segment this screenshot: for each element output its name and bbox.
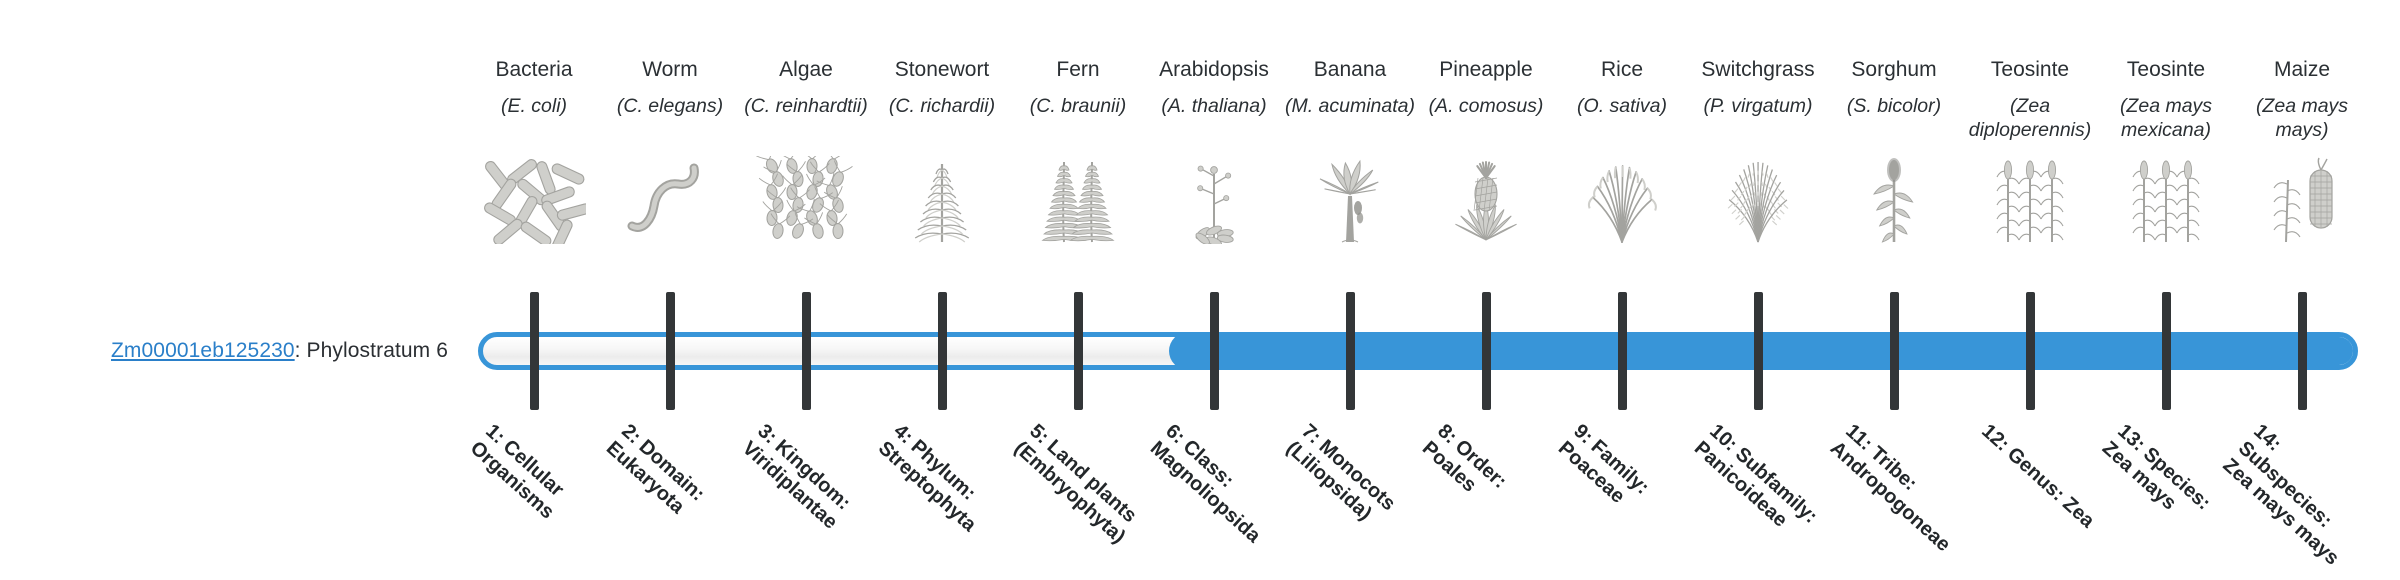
taxonomy-label: 4: Phylum: Streptophyta bbox=[874, 414, 1010, 580]
species-common-name: Maize bbox=[2234, 58, 2370, 82]
taxonomy-label: 14: Subspecies: Zea mays mays bbox=[2234, 414, 2370, 580]
taxonomy-label: 1: Cellular Organisms bbox=[466, 414, 602, 580]
taxonomy-label-text: 3: Kingdom: Viridiplantae bbox=[737, 420, 879, 555]
species-common-name: Fern bbox=[1010, 58, 1146, 82]
species-scientific-name: (P. virgatum) bbox=[1686, 94, 1830, 118]
species-common-name: Bacteria bbox=[466, 58, 602, 82]
phylostratum-label: Phylostratum 6 bbox=[307, 339, 448, 362]
species-common-name: Banana bbox=[1282, 58, 1418, 82]
species-scientific-name: (O. sativa) bbox=[1550, 94, 1694, 118]
species-common-name: Pineapple bbox=[1418, 58, 1554, 82]
taxonomy-label-text: 12: Genus: Zea bbox=[1977, 420, 2104, 537]
taxonomy-label-text: 7: Monocots (Liliopsida) bbox=[1281, 420, 1423, 555]
sorghum-plant-icon bbox=[1842, 156, 1946, 244]
switchgrass-plant-icon bbox=[1706, 156, 1810, 244]
species-common-name: Teosinte bbox=[2098, 58, 2234, 82]
taxonomy-label: 7: Monocots (Liliopsida) bbox=[1282, 414, 1418, 580]
taxonomy-label: 3: Kingdom: Viridiplantae bbox=[738, 414, 874, 580]
gene-phylostratum-text: : Phylostratum 6 bbox=[295, 339, 448, 363]
taxonomy-label: 10: Subfamily: Panicoideae bbox=[1690, 414, 1826, 580]
species-scientific-name: (Zea mays mays) bbox=[2230, 94, 2374, 142]
pineapple-plant-icon bbox=[1434, 156, 1538, 244]
species-scientific-name: (C. richardii) bbox=[870, 94, 1014, 118]
track-background bbox=[478, 332, 2358, 370]
teosinte-ears-icon bbox=[1978, 156, 2082, 244]
phylostratigraphy-figure: Zm00001eb125230: Phylostratum 6 Bacteria… bbox=[0, 0, 2400, 580]
taxonomy-label-text: 10: Subfamily: Panicoideae bbox=[1689, 420, 1831, 555]
gene-id-link[interactable]: Zm00001eb125230 bbox=[111, 339, 295, 363]
nematode-worm-icon bbox=[618, 156, 722, 244]
taxonomy-label-text: 2: Domain: Eukaryota bbox=[601, 420, 743, 555]
banana-tree-icon bbox=[1298, 156, 1402, 244]
stonewort-plant-icon bbox=[890, 156, 994, 244]
taxonomy-label: 9: Family: Poaceae bbox=[1554, 414, 1690, 580]
species-scientific-name: (Zea diploperennis) bbox=[1958, 94, 2102, 142]
taxonomy-label-text: 5: Land plants (Embryophyta) bbox=[1009, 420, 1151, 555]
taxonomy-label-text: 11: Tribe: Andropogoneae bbox=[1825, 420, 1967, 555]
taxonomy-label: 6: Class: Magnoliopsida bbox=[1146, 414, 1282, 580]
taxonomy-label-list: 1: Cellular Organisms2: Domain: Eukaryot… bbox=[466, 414, 2372, 580]
species-common-name: Teosinte bbox=[1962, 58, 2098, 82]
taxonomy-label-text: 9: Family: Poaceae bbox=[1553, 420, 1695, 555]
species-scientific-name: (C. reinhardtii) bbox=[734, 94, 878, 118]
taxonomy-label: 8: Order: Poales bbox=[1418, 414, 1554, 580]
taxonomy-label-text: 13: Species: Zea mays bbox=[2097, 420, 2239, 555]
species-scientific-name: (E. coli) bbox=[462, 94, 606, 118]
species-scientific-name: (S. bicolor) bbox=[1822, 94, 1966, 118]
phylostratum-track[interactable] bbox=[478, 332, 2358, 370]
species-scientific-name: (C. elegans) bbox=[598, 94, 742, 118]
species-common-name: Arabidopsis bbox=[1146, 58, 1282, 82]
species-scientific-name: (A. comosus) bbox=[1414, 94, 1558, 118]
species-scientific-name: (M. acuminata) bbox=[1278, 94, 1422, 118]
species-common-name: Worm bbox=[602, 58, 738, 82]
taxonomy-label-text: 6: Class: Magnoliopsida bbox=[1145, 420, 1287, 555]
green-algae-cells-icon bbox=[754, 156, 858, 244]
species-common-name: Sorghum bbox=[1826, 58, 1962, 82]
arabidopsis-rosette-icon bbox=[1162, 156, 1266, 244]
maize-ear-icon bbox=[2250, 156, 2354, 244]
teosinte-mexicana-ears-icon bbox=[2114, 156, 2218, 244]
taxonomy-label-text: 14: Subspecies: Zea mays mays bbox=[2218, 420, 2376, 572]
taxonomy-label: 5: Land plants (Embryophyta) bbox=[1010, 414, 1146, 580]
species-common-name: Rice bbox=[1554, 58, 1690, 82]
rice-plant-icon bbox=[1570, 156, 1674, 244]
taxonomy-label-text: 1: Cellular Organisms bbox=[465, 420, 607, 555]
species-scientific-name: (Zea mays mexicana) bbox=[2094, 94, 2238, 142]
taxonomy-label: 11: Tribe: Andropogoneae bbox=[1826, 414, 1962, 580]
taxonomy-label-text: 8: Order: Poales bbox=[1417, 420, 1559, 555]
bacteria-rods-icon bbox=[482, 156, 586, 244]
label-separator: : bbox=[295, 339, 307, 362]
track-fill bbox=[1169, 332, 2358, 370]
taxonomy-label: 13: Species: Zea mays bbox=[2098, 414, 2234, 580]
fern-frond-icon bbox=[1026, 156, 1130, 244]
species-scientific-name: (C. braunii) bbox=[1006, 94, 1150, 118]
taxonomy-label-text: 4: Phylum: Streptophyta bbox=[873, 420, 1015, 555]
species-common-name: Stonewort bbox=[874, 58, 1010, 82]
taxonomy-label: 2: Domain: Eukaryota bbox=[602, 414, 738, 580]
species-common-name: Switchgrass bbox=[1690, 58, 1826, 82]
species-scientific-name: (A. thaliana) bbox=[1142, 94, 1286, 118]
gene-row-label: Zm00001eb125230: Phylostratum 6 bbox=[0, 332, 460, 370]
taxonomy-label: 12: Genus: Zea bbox=[1962, 414, 2098, 580]
species-common-name: Algae bbox=[738, 58, 874, 82]
